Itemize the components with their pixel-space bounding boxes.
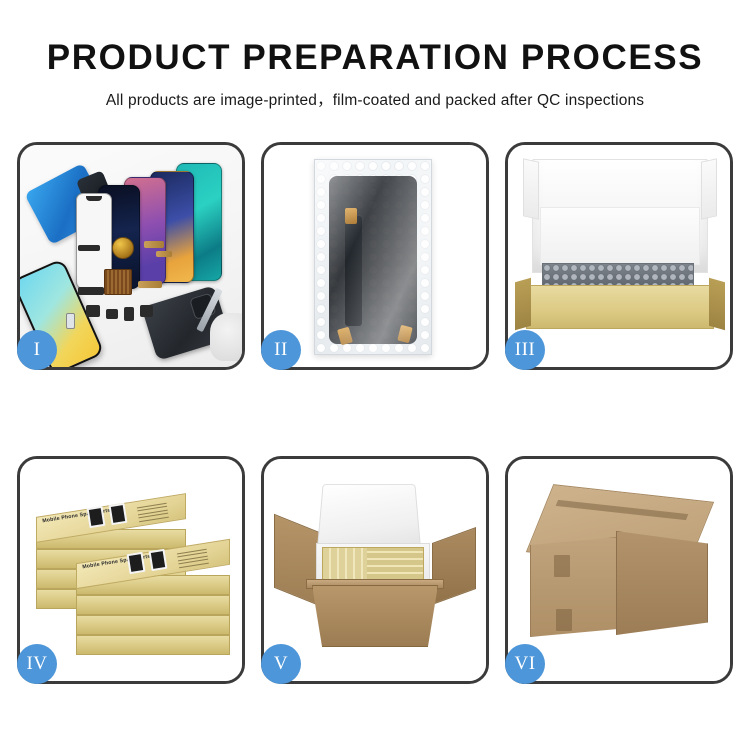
step-panel-1: I <box>17 142 245 370</box>
carton-tape-icon <box>556 609 572 631</box>
carton-flap-left <box>274 514 320 607</box>
header: PRODUCT PREPARATION PROCESS All products… <box>0 38 750 110</box>
spare-part-icon <box>78 245 100 251</box>
box-screen-print-icon <box>87 506 106 528</box>
box-screen-print-icon <box>127 552 146 574</box>
box-screen-print-icon <box>149 549 168 571</box>
spare-part-icon <box>156 251 172 257</box>
wrapped-screen-assembly <box>329 176 417 344</box>
step-1-image <box>20 145 242 367</box>
step-3-image <box>508 145 730 367</box>
spare-part-icon <box>138 281 162 288</box>
step-badge-4: IV <box>17 644 57 684</box>
spare-part-icon <box>144 241 164 248</box>
kraft-box-body <box>526 285 714 329</box>
step-2-image <box>264 145 486 367</box>
step-panel-3: III <box>505 142 733 370</box>
flex-cable-icon <box>345 216 362 326</box>
product-preparation-infographic: PRODUCT PREPARATION PROCESS All products… <box>0 0 750 750</box>
carton-tape-icon <box>554 555 570 577</box>
step-4-image: Mobile Phone Spare Parts Mobile Phone Sp… <box>20 459 242 681</box>
carton-left-panel <box>530 537 618 637</box>
carton-flap-right <box>432 527 476 605</box>
foam-sheet <box>540 207 700 265</box>
step-badge-2: II <box>261 330 301 370</box>
step-badge-1: I <box>17 330 57 370</box>
step-badge-5: V <box>261 644 301 684</box>
step-panel-6: VI <box>505 456 733 684</box>
retail-box-edge <box>76 635 230 655</box>
step-panel-5: V <box>261 456 489 684</box>
retail-box-stacks: Mobile Phone Spare Parts Mobile Phone Sp… <box>32 483 230 661</box>
carton-front-panel <box>312 585 438 647</box>
foam-insert-lid <box>317 484 421 548</box>
retail-box-edge <box>76 615 230 635</box>
step-6-image <box>508 459 730 681</box>
spare-part-icon <box>124 307 134 321</box>
spare-part-icon <box>140 305 153 317</box>
page-title: PRODUCT PREPARATION PROCESS <box>0 38 750 78</box>
step-badge-3: III <box>505 330 545 370</box>
step-badge-6: VI <box>505 644 545 684</box>
process-steps-grid: I II III <box>17 142 733 690</box>
phone-screen-fan <box>76 163 241 288</box>
box-screen-print-icon <box>109 503 128 525</box>
step-panel-2: II <box>261 142 489 370</box>
spare-part-icon <box>106 309 118 319</box>
page-subtitle: All products are image-printed，film-coat… <box>0 88 750 110</box>
retail-box-edge <box>76 595 230 615</box>
spare-part-icon <box>78 287 104 295</box>
spare-part-icon <box>66 313 75 329</box>
spare-part-icon <box>86 305 100 317</box>
logic-board-chip-icon <box>104 269 132 295</box>
step-5-image <box>264 459 486 681</box>
connector-tab-icon <box>345 208 357 224</box>
vibration-motor-icon <box>112 237 134 259</box>
bubble-wrap-bag <box>314 159 432 355</box>
carton-right-panel <box>616 531 708 635</box>
step-panel-4: Mobile Phone Spare Parts Mobile Phone Sp… <box>17 456 245 684</box>
gloved-hand <box>210 313 242 361</box>
